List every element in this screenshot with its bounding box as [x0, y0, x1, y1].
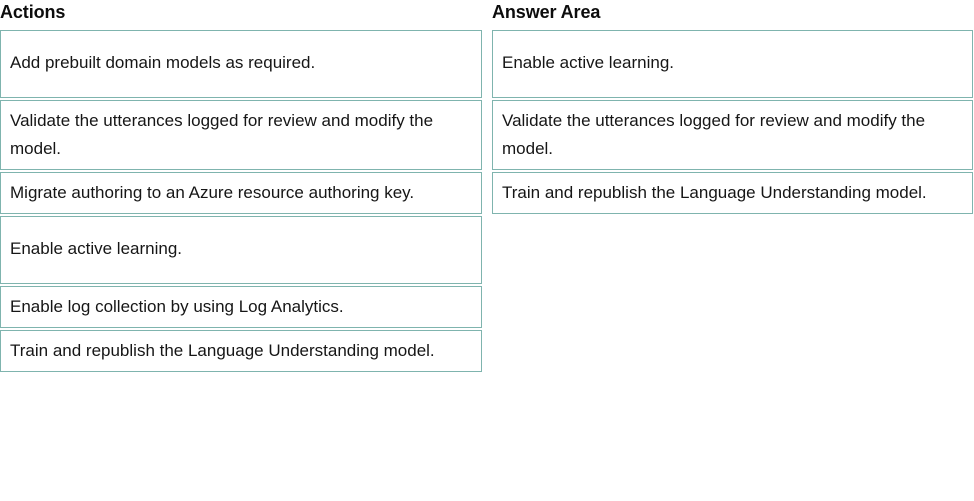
actions-column-header: Actions — [0, 0, 482, 30]
answer-item-label: Enable active learning. — [502, 49, 964, 77]
answer-area-list: Enable active learning.Validate the utte… — [492, 30, 973, 214]
action-item-label: Enable log collection by using Log Analy… — [10, 293, 472, 321]
drag-and-drop-question: Actions Add prebuilt domain models as re… — [0, 0, 974, 501]
answer-item[interactable]: Validate the utterances logged for revie… — [492, 100, 973, 170]
actions-list: Add prebuilt domain models as required.V… — [0, 30, 482, 372]
answer-area-column: Answer Area Enable active learning.Valid… — [492, 0, 973, 214]
action-item[interactable]: Train and republish the Language Underst… — [0, 330, 482, 372]
answer-item[interactable]: Train and republish the Language Underst… — [492, 172, 973, 214]
action-item[interactable]: Add prebuilt domain models as required. — [0, 30, 482, 98]
answer-area-column-header: Answer Area — [492, 0, 973, 30]
answer-item-label: Train and republish the Language Underst… — [502, 179, 964, 207]
action-item[interactable]: Validate the utterances logged for revie… — [0, 100, 482, 170]
action-item-label: Validate the utterances logged for revie… — [10, 107, 472, 163]
action-item-label: Enable active learning. — [10, 235, 472, 263]
action-item-label: Train and republish the Language Underst… — [10, 337, 472, 365]
action-item[interactable]: Enable active learning. — [0, 216, 482, 284]
action-item[interactable]: Migrate authoring to an Azure resource a… — [0, 172, 482, 214]
actions-column: Actions Add prebuilt domain models as re… — [0, 0, 482, 372]
answer-item[interactable]: Enable active learning. — [492, 30, 973, 98]
action-item-label: Add prebuilt domain models as required. — [10, 49, 472, 77]
action-item[interactable]: Enable log collection by using Log Analy… — [0, 286, 482, 328]
answer-item-label: Validate the utterances logged for revie… — [502, 107, 964, 163]
action-item-label: Migrate authoring to an Azure resource a… — [10, 179, 472, 207]
